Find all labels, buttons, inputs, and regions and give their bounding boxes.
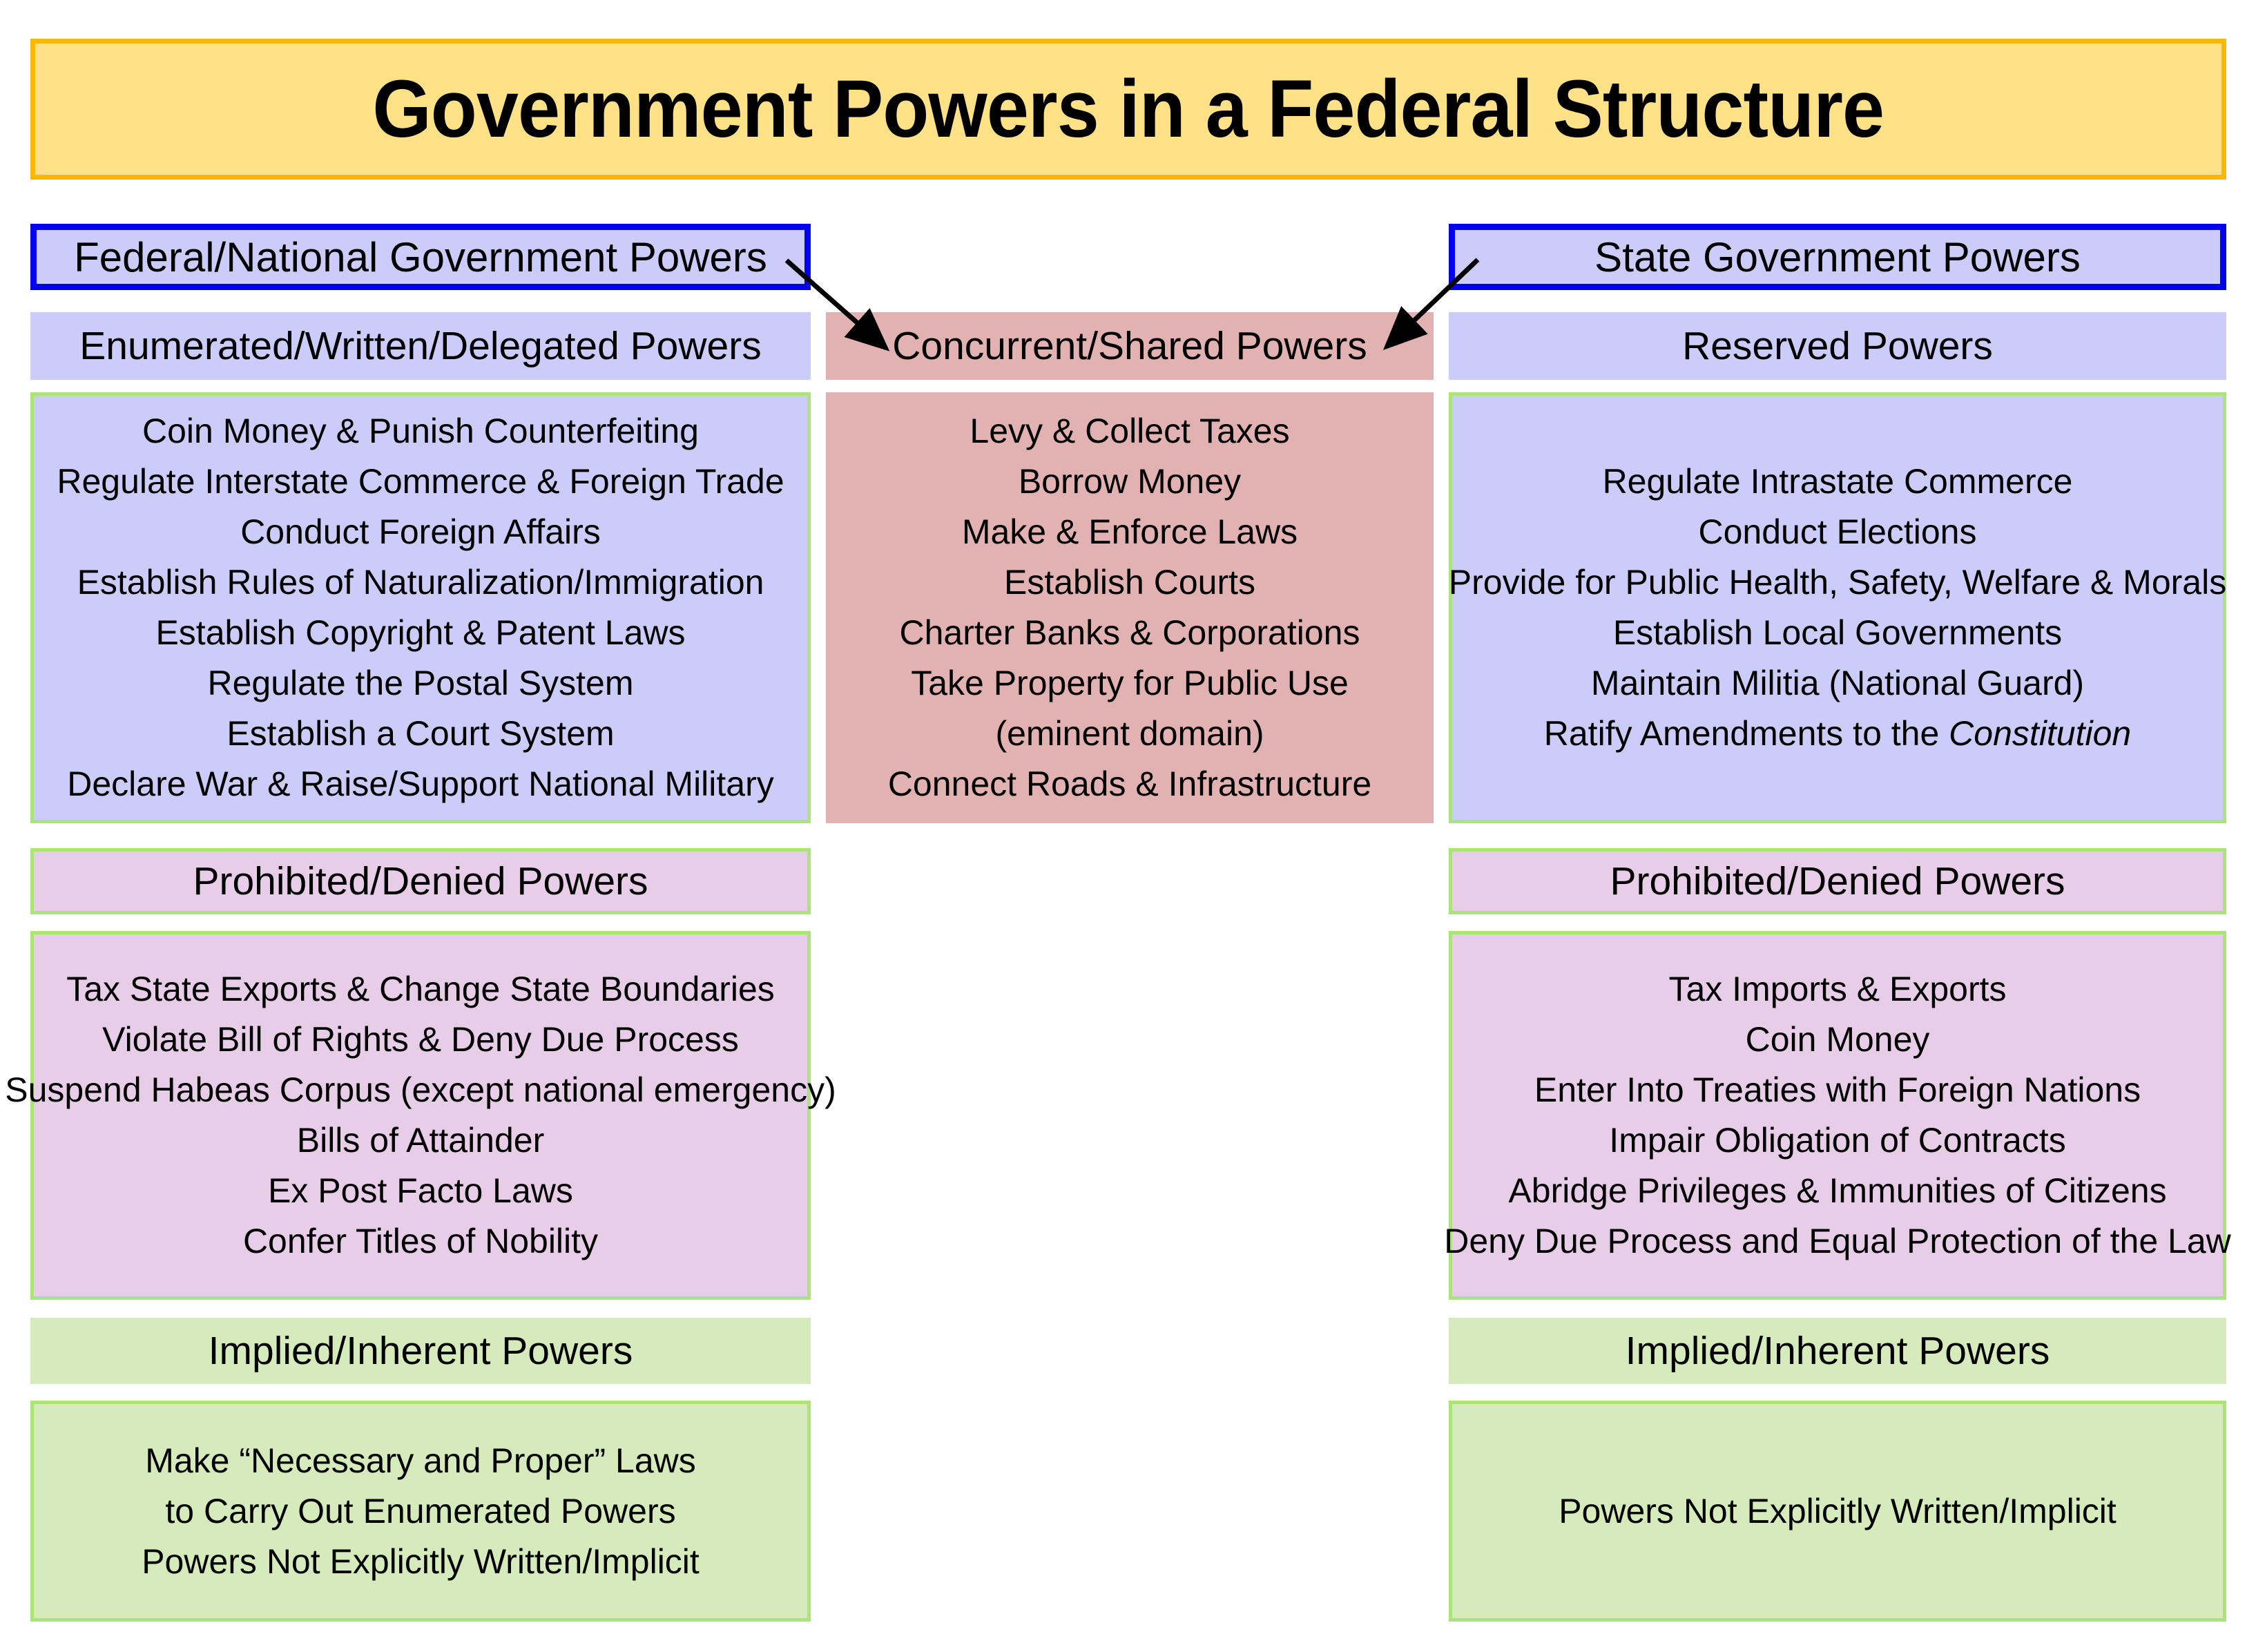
list-item: Abridge Privileges & Immunities of Citiz… [1508, 1166, 2166, 1216]
list-item: Coin Money [1746, 1015, 1930, 1065]
section-body-federal-prohibited-powers: Tax State Exports & Change State Boundar… [30, 931, 811, 1300]
section-heading-federal-implied-powers: Implied/Inherent Powers [30, 1318, 811, 1384]
list-item: Connect Roads & Infrastructure [888, 759, 1371, 809]
list-item: Powers Not Explicitly Written/Implicit [142, 1537, 700, 1587]
list-item: Levy & Collect Taxes [970, 406, 1289, 457]
list-item: Establish Local Governments [1613, 608, 2062, 658]
section-heading-state-prohibited-powers-label: Prohibited/Denied Powers [1610, 858, 2065, 904]
section-heading-reserved-powers-label: Reserved Powers [1682, 323, 1993, 369]
section-body-enumerated-powers: Coin Money & Punish CounterfeitingRegula… [30, 392, 811, 823]
section-body-state-prohibited-powers: Tax Imports & ExportsCoin MoneyEnter Int… [1449, 931, 2226, 1300]
section-heading-federal-implied-powers-label: Implied/Inherent Powers [209, 1328, 633, 1374]
state-government-header: State Government Powers [1449, 224, 2226, 290]
section-body-concurrent-powers: Levy & Collect TaxesBorrow MoneyMake & E… [826, 392, 1434, 823]
list-item: Bills of Attainder [297, 1115, 545, 1166]
list-item: Make & Enforce Laws [962, 507, 1298, 557]
list-item: Charter Banks & Corporations [900, 608, 1360, 658]
section-heading-federal-prohibited-powers-label: Prohibited/Denied Powers [193, 858, 648, 904]
section-body-state-implied-powers: Powers Not Explicitly Written/Implicit [1449, 1401, 2226, 1622]
list-item: Establish a Court System [226, 709, 614, 759]
list-item: Make “Necessary and Proper” Laws [145, 1436, 696, 1486]
list-item: Regulate Interstate Commerce & Foreign T… [57, 457, 784, 507]
list-item: Deny Due Process and Equal Protection of… [1444, 1216, 2231, 1267]
section-body-reserved-powers: Regulate Intrastate CommerceConduct Elec… [1449, 392, 2226, 823]
section-heading-concurrent-powers-label: Concurrent/Shared Powers [892, 323, 1367, 369]
list-item: Establish Courts [1004, 557, 1255, 608]
list-item: Regulate Intrastate Commerce [1603, 457, 2073, 507]
page-title-banner: Government Powers in a Federal Structure [30, 39, 2226, 180]
list-item: Maintain Militia (National Guard) [1591, 658, 2084, 709]
list-item: Coin Money & Punish Counterfeiting [142, 406, 699, 457]
list-item: to Carry Out Enumerated Powers [165, 1486, 675, 1537]
list-item: Suspend Habeas Corpus (except national e… [5, 1065, 836, 1115]
section-heading-concurrent-powers: Concurrent/Shared Powers [826, 312, 1434, 380]
section-heading-reserved-powers: Reserved Powers [1449, 312, 2226, 380]
section-heading-state-implied-powers-label: Implied/Inherent Powers [1626, 1328, 2050, 1374]
federal-government-header: Federal/National Government Powers [30, 224, 811, 290]
list-item: Tax Imports & Exports [1668, 964, 2006, 1015]
section-heading-enumerated-powers-label: Enumerated/Written/Delegated Powers [79, 323, 761, 369]
list-item: Conduct Foreign Affairs [240, 507, 601, 557]
list-item: Impair Obligation of Contracts [1609, 1115, 2065, 1166]
list-item: Regulate the Postal System [208, 658, 634, 709]
page-title: Government Powers in a Federal Structure [373, 62, 1884, 156]
list-item: Tax State Exports & Change State Boundar… [66, 964, 775, 1015]
list-item: (eminent domain) [995, 709, 1264, 759]
section-heading-enumerated-powers: Enumerated/Written/Delegated Powers [30, 312, 811, 380]
list-item: Enter Into Treaties with Foreign Nations [1534, 1065, 2141, 1115]
section-heading-state-implied-powers: Implied/Inherent Powers [1449, 1318, 2226, 1384]
list-item: Ratify Amendments to the Constitution [1544, 709, 2131, 759]
list-item: Establish Rules of Naturalization/Immigr… [77, 557, 764, 608]
list-item: Declare War & Raise/Support National Mil… [67, 759, 774, 809]
federal-government-header-label: Federal/National Government Powers [74, 233, 767, 281]
section-heading-federal-prohibited-powers: Prohibited/Denied Powers [30, 848, 811, 914]
state-government-header-label: State Government Powers [1594, 233, 2081, 281]
section-body-federal-implied-powers: Make “Necessary and Proper” Lawsto Carry… [30, 1401, 811, 1622]
list-item: Borrow Money [1019, 457, 1241, 507]
section-heading-state-prohibited-powers: Prohibited/Denied Powers [1449, 848, 2226, 914]
list-item: Powers Not Explicitly Written/Implicit [1559, 1486, 2117, 1537]
list-item: Conduct Elections [1698, 507, 1976, 557]
list-item: Confer Titles of Nobility [243, 1216, 598, 1267]
list-item: Establish Copyright & Patent Laws [155, 608, 685, 658]
list-item: Take Property for Public Use [911, 658, 1349, 709]
list-item: Ex Post Facto Laws [268, 1166, 573, 1216]
list-item: Violate Bill of Rights & Deny Due Proces… [102, 1015, 739, 1065]
list-item: Provide for Public Health, Safety, Welfa… [1449, 557, 2226, 608]
